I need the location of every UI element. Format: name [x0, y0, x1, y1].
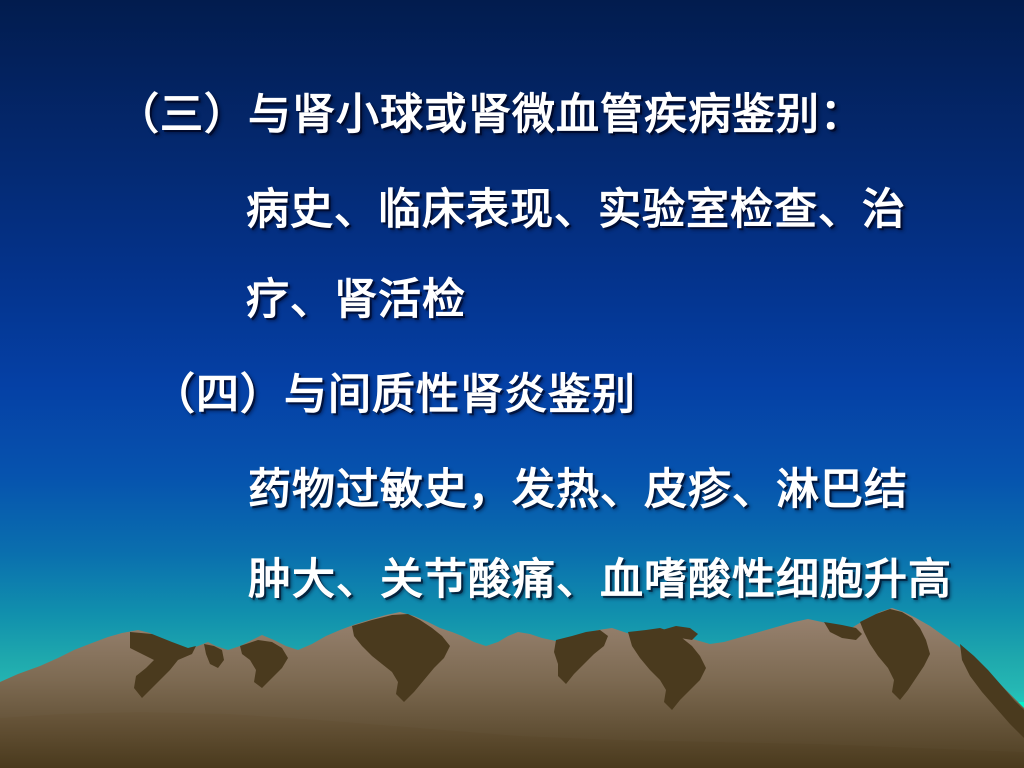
slide-text-block: （三）与肾小球或肾微血管疾病鉴别： 病史、临床表现、实验室检查、治 疗、肾活检 …	[0, 0, 1024, 768]
slide-line-3: 疗、肾活检	[246, 265, 466, 327]
slide-line-6: 肿大、关节酸痛、血嗜酸性细胞升高	[248, 545, 952, 607]
presentation-slide: （三）与肾小球或肾微血管疾病鉴别： 病史、临床表现、实验室检查、治 疗、肾活检 …	[0, 0, 1024, 768]
slide-line-5: 药物过敏史，发热、皮疹、淋巴结	[248, 455, 908, 517]
slide-line-4: （四）与间质性肾炎鉴别	[152, 360, 636, 422]
slide-line-1: （三）与肾小球或肾微血管疾病鉴别：	[116, 80, 864, 142]
slide-line-2: 病史、临床表现、实验室检查、治	[246, 175, 906, 237]
